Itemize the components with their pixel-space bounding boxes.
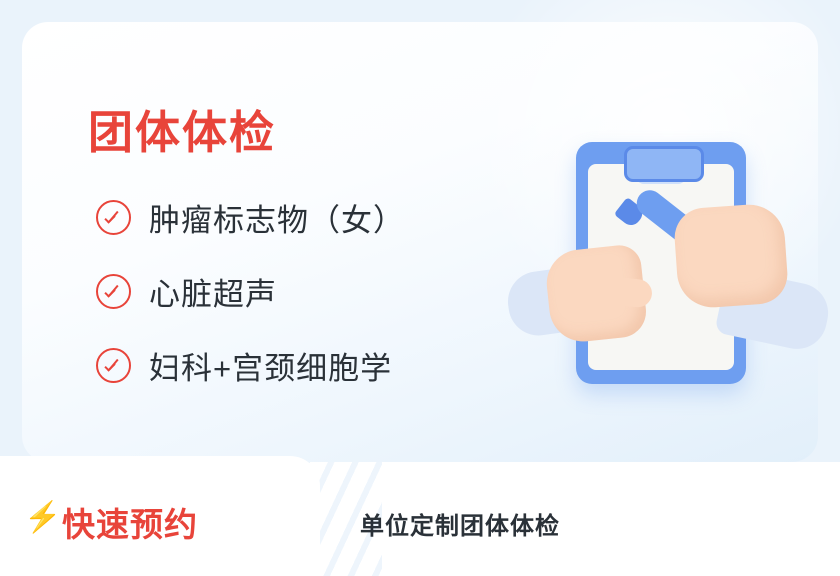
page-title: 团体体检: [88, 96, 276, 161]
feature-label: 妇科+宫颈细胞学: [149, 343, 392, 388]
bolt-icon: ⚡: [24, 501, 56, 535]
check-circle-icon: [96, 348, 131, 383]
clipboard-clip: [624, 146, 704, 182]
quick-booking-button[interactable]: 快速预约: [62, 498, 198, 546]
feature-list: 肿瘤标志物（女） 心脏超声 妇科+宫颈细胞学: [96, 180, 526, 402]
promo-card: 团体体检 肿瘤标志物（女） 心脏超声 妇科+宫颈细胞学: [0, 0, 840, 576]
feature-label: 肿瘤标志物（女）: [149, 195, 405, 240]
footer-bar: ⚡ 快速预约 单位定制团体体检: [0, 462, 840, 576]
check-circle-icon: [96, 200, 131, 235]
clipboard-illustration: [508, 128, 808, 408]
feature-label: 心脏超声: [149, 269, 277, 314]
list-item: 妇科+宫颈细胞学: [96, 328, 526, 402]
list-item: 心脏超声: [96, 254, 526, 328]
list-item: 肿瘤标志物（女）: [96, 180, 526, 254]
check-circle-icon: [96, 274, 131, 309]
footer-tagline: 单位定制团体体检: [360, 506, 560, 541]
